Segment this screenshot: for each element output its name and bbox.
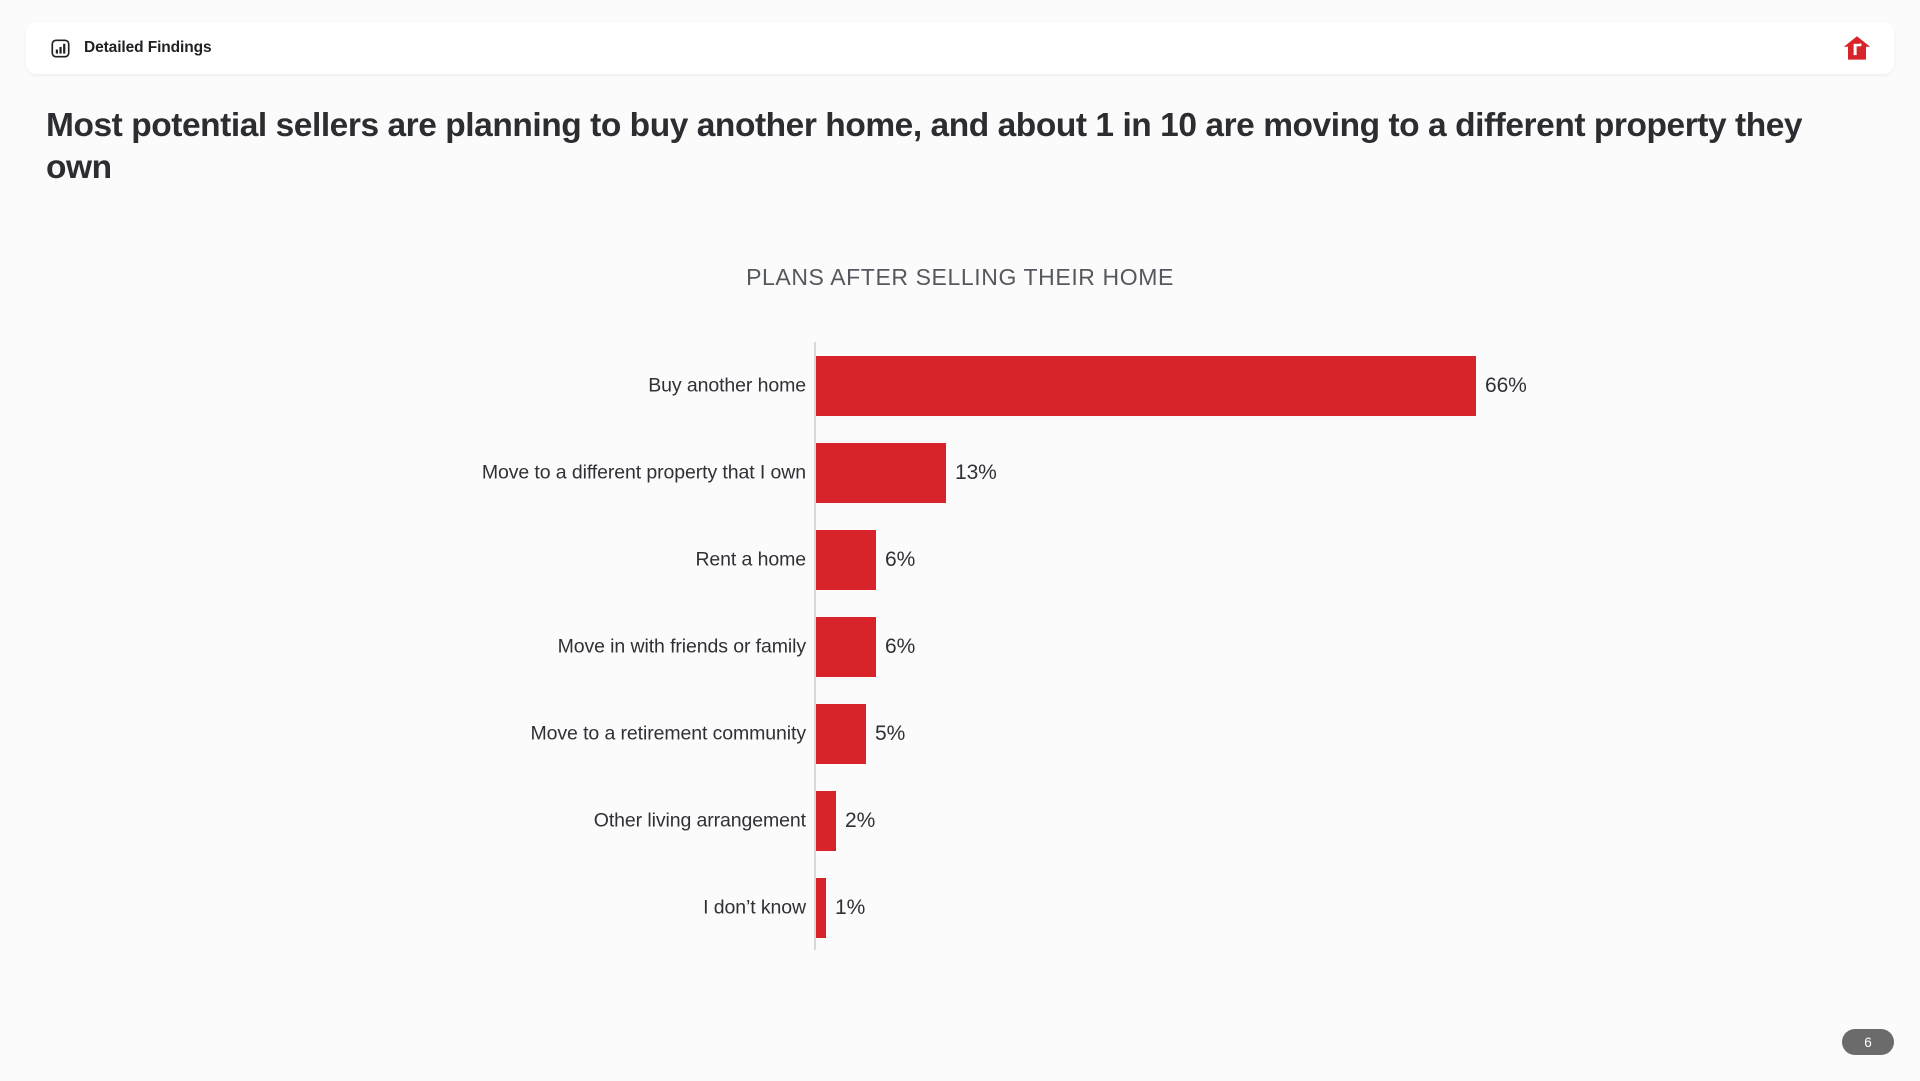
chart-bar-label: Other living arrangement — [594, 809, 806, 832]
chart-bar-value: 6% — [885, 635, 915, 659]
header-left-group: Detailed Findings — [50, 38, 211, 59]
chart-bar-label: Buy another home — [648, 374, 806, 397]
chart-bar-value: 6% — [885, 548, 915, 572]
chart-title: PLANS AFTER SELLING THEIR HOME — [0, 264, 1920, 291]
chart-bar-label: Rent a home — [695, 548, 806, 571]
page-title: Detailed Findings — [84, 39, 211, 57]
chart-bar — [816, 704, 866, 764]
bar-chart-icon — [50, 38, 71, 59]
chart-bar — [816, 878, 826, 938]
chart-bar-value: 5% — [875, 722, 905, 746]
chart-bar — [816, 791, 836, 851]
chart-bar-label: Move to a different property that I own — [482, 461, 806, 484]
chart-bar — [816, 617, 876, 677]
chart-bar-row: Move in with friends or family6% — [0, 603, 1920, 690]
page-number-badge: 6 — [1842, 1029, 1894, 1055]
realtor-house-logo-icon — [1842, 33, 1872, 63]
chart-bar-row: I don’t know1% — [0, 864, 1920, 951]
chart-bar-label: Move to a retirement community — [530, 722, 806, 745]
chart-bar-row: Rent a home6% — [0, 516, 1920, 603]
chart-bar-row: Move to a retirement community5% — [0, 690, 1920, 777]
chart-bar-row: Other living arrangement2% — [0, 777, 1920, 864]
chart-plot-area: Buy another home66%Move to a different p… — [0, 342, 1920, 952]
chart-bar-row: Buy another home66% — [0, 342, 1920, 429]
chart-axis-line — [814, 342, 816, 950]
chart-bar-value: 1% — [835, 896, 865, 920]
top-header-bar: Detailed Findings — [26, 22, 1894, 74]
chart-bar-value: 13% — [955, 461, 997, 485]
chart-bar — [816, 356, 1476, 416]
chart-bar-value: 66% — [1485, 374, 1527, 398]
chart-bar-row: Move to a different property that I own1… — [0, 429, 1920, 516]
chart-bar — [816, 443, 946, 503]
chart-bar-label: Move in with friends or family — [558, 635, 806, 658]
chart-bar-label: I don’t know — [703, 896, 806, 919]
chart-bar — [816, 530, 876, 590]
chart-bar-value: 2% — [845, 809, 875, 833]
headline-text: Most potential sellers are planning to b… — [46, 105, 1856, 189]
